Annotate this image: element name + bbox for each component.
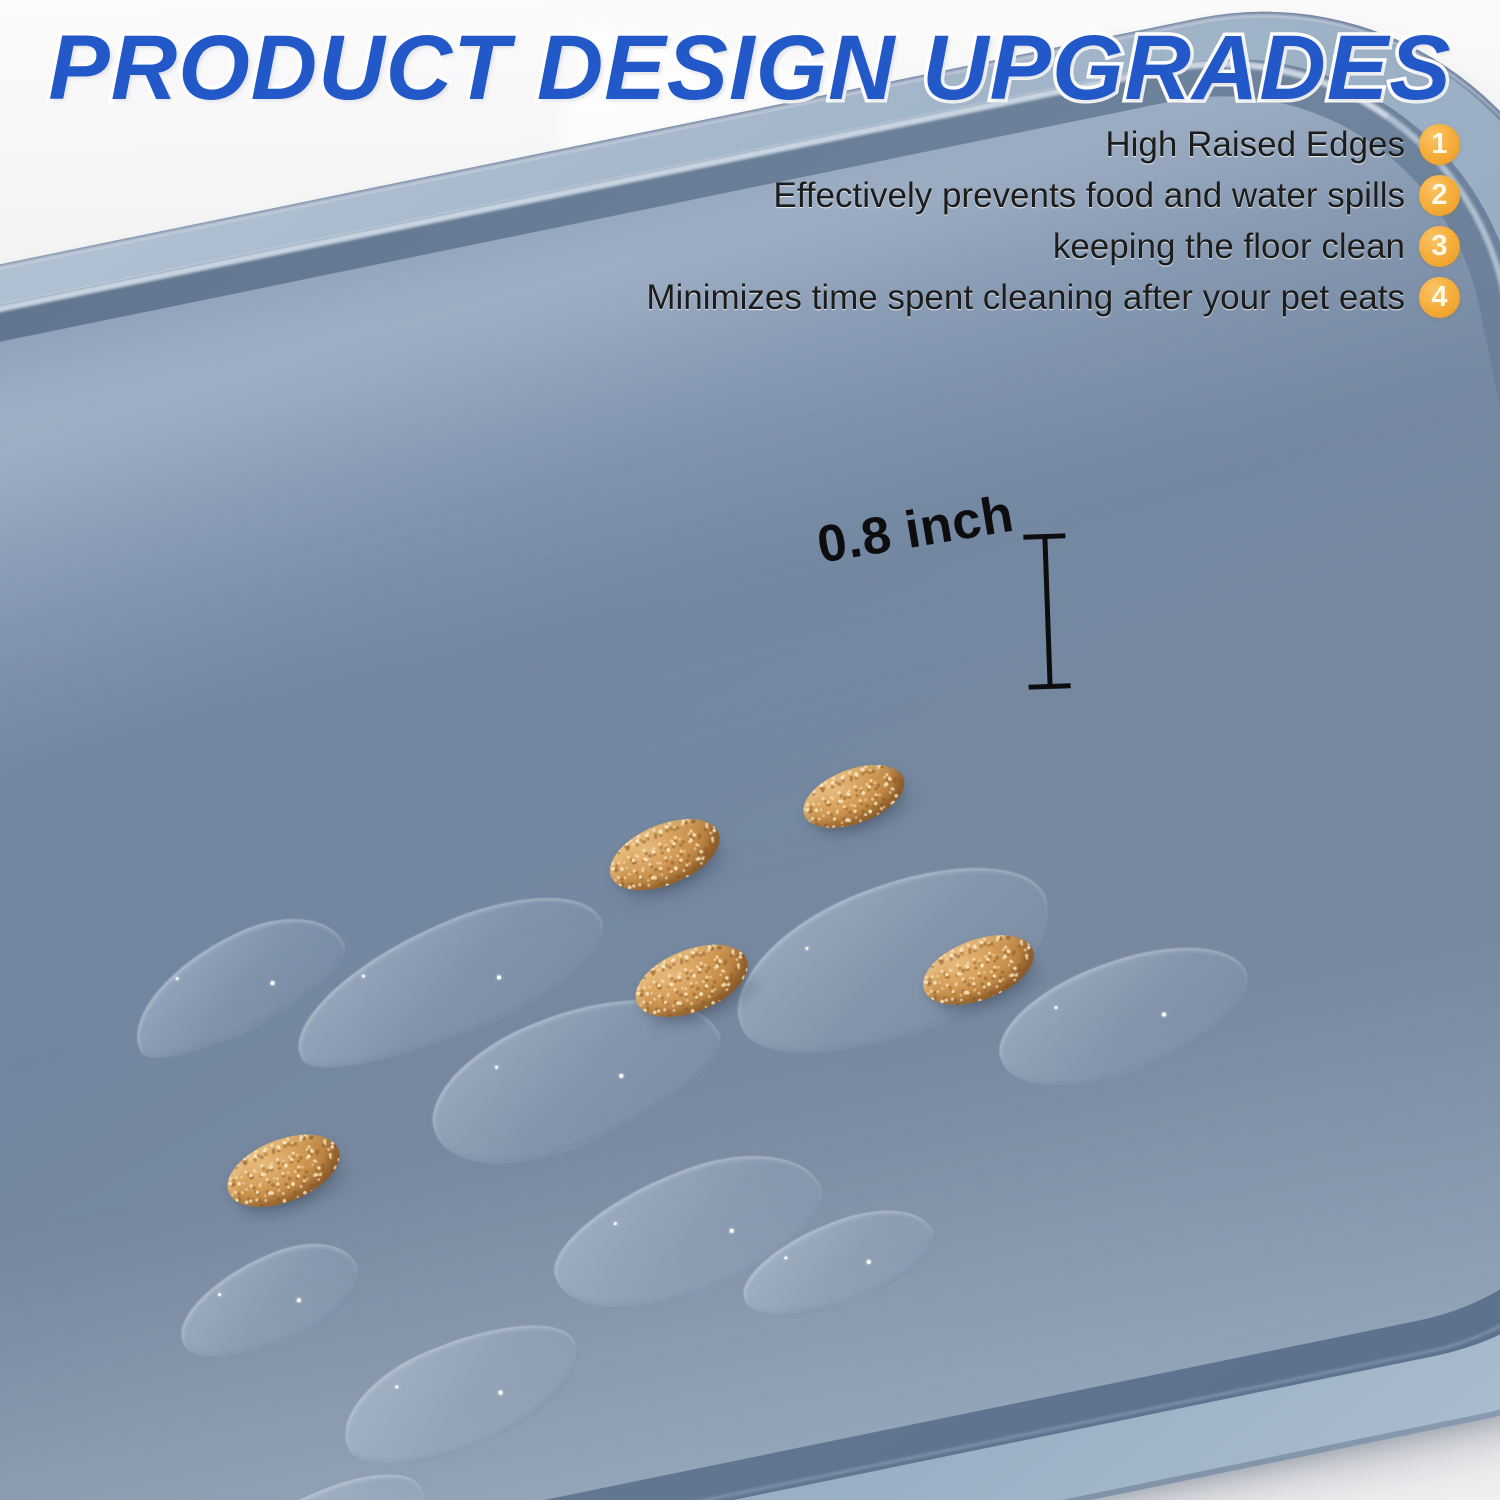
- water-highlight-speck: [394, 1385, 398, 1389]
- feature-number-badge: 2: [1419, 175, 1460, 216]
- feature-row: keeping the floor clean3: [460, 226, 1460, 267]
- feature-list: High Raised Edges1Effectively prevents f…: [460, 124, 1460, 318]
- feature-number-badge: 3: [1419, 226, 1460, 267]
- water-highlight-speck: [619, 1073, 624, 1078]
- water-highlight-speck: [361, 974, 365, 978]
- feature-text: Minimizes time spent cleaning after your…: [646, 278, 1405, 317]
- dimension-vertical-bar: [1042, 537, 1052, 686]
- product-marketing-image: 0.8 inch PRODUCT DESIGN UPGRADES High Ra…: [0, 0, 1500, 1500]
- dimension-measure-line: [1023, 533, 1070, 689]
- water-highlight-speck: [270, 980, 275, 985]
- feature-row: Effectively prevents food and water spil…: [460, 175, 1460, 216]
- feature-row: Minimizes time spent cleaning after your…: [460, 277, 1460, 318]
- water-highlight-speck: [496, 975, 501, 980]
- feature-number-badge: 1: [1419, 124, 1460, 165]
- water-highlight-speck: [175, 977, 179, 981]
- feature-text: keeping the floor clean: [1053, 227, 1405, 266]
- feature-row: High Raised Edges1: [460, 124, 1460, 165]
- water-highlight-speck: [805, 947, 809, 951]
- page-title: PRODUCT DESIGN UPGRADES: [0, 22, 1500, 114]
- feature-number-badge: 4: [1419, 277, 1460, 318]
- water-highlight-speck: [1162, 1012, 1167, 1017]
- feature-text: High Raised Edges: [1105, 125, 1405, 164]
- water-highlight-speck: [217, 1293, 221, 1297]
- water-highlight-speck: [498, 1390, 503, 1395]
- feature-text: Effectively prevents food and water spil…: [773, 176, 1405, 215]
